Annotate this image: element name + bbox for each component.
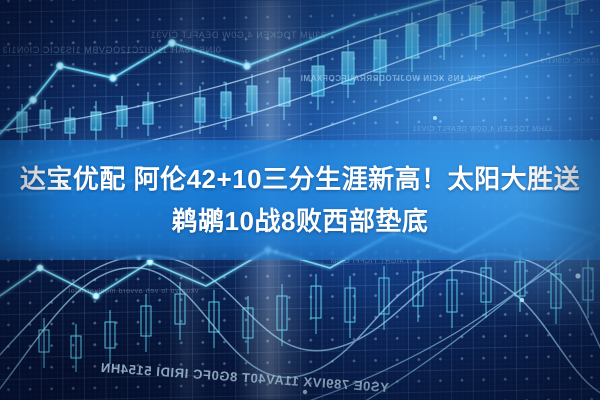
ghost-ticker-text-4: vkuo vo lo veh avvord moolvarriolol xyxy=(68,288,198,295)
ghost-ticker-text-2: 33HM TOCKEN 4.G0W DEAFLT CIV31 xyxy=(150,30,326,40)
ghost-ticker-text-1: 0INS 76AH 11VII2C12OGVBM 1IS3CIC CI0N1I3 xyxy=(2,45,221,55)
ghost-ticker-text-7: 33HM TOCKEN 4.G0W DEAFLT CIV31 xyxy=(412,126,553,133)
ghost-ticker-text-8: 0INS 76AH 11VII2C12OGVBM 1IS3CIC CI0N1I3 xyxy=(540,58,600,65)
headline-line-1: 达宝优配 阿伦42+10三分生涯新高！太阳大胜送 xyxy=(20,159,580,199)
headline-text: 达宝优配 阿伦42+10三分生涯新高！太阳大胜送 鹈鹕10战8败西部垫底 xyxy=(0,140,600,260)
banner-image: 0INS 76AH 11VII2C12OGVBM 1IS3CIC CI0N1I3… xyxy=(0,0,600,400)
headline-line-2: 鹈鹕10战8败西部垫底 xyxy=(172,201,429,241)
ghost-ticker-text-3: SIV 1NS XCIN WOJITODRRRAUFCOFXAMI xyxy=(300,74,482,83)
